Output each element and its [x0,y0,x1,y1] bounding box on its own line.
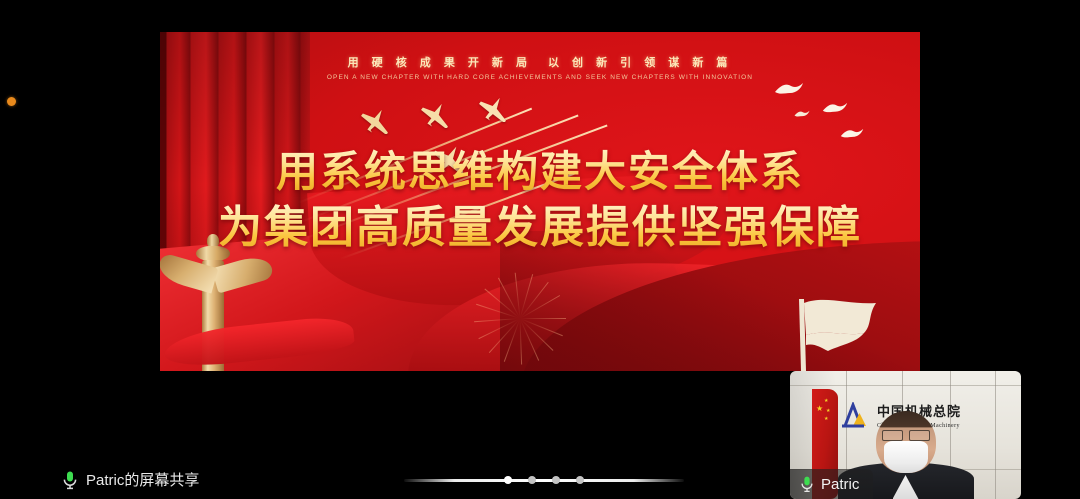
dove-group-decoration [772,80,902,160]
dove-icon [794,110,810,119]
airplane-group-decoration [310,82,590,212]
participant-name: Patric [821,476,859,493]
shared-screen-slide[interactable]: 用 硬 核 成 果 开 新 局以 创 新 引 领 谋 新 篇 OPEN A NE… [160,32,920,371]
screen-share-indicator: Patric的屏幕共享 [62,469,199,490]
pager-dot-1[interactable] [504,476,512,484]
dove-icon [840,128,864,141]
microphone-icon [62,470,78,490]
microphone-icon [800,475,814,493]
recording-status-dot [7,97,16,106]
screen-share-label: Patric的屏幕共享 [86,469,199,490]
dove-icon [774,82,804,98]
pager-dot-2[interactable] [528,476,536,484]
participant-video-tile[interactable]: ★ ★ ★ ★ 中国机械总院 China Academy of Machiner… [790,371,1021,499]
dove-icon [822,102,848,116]
face-mask [884,441,928,473]
pager-dot-4[interactable] [576,476,584,484]
slide-pager[interactable] [404,476,684,484]
glasses-icon [882,430,930,439]
flag-decoration [780,289,890,371]
firework-decoration [460,273,580,363]
meeting-window: 用 硬 核 成 果 开 新 局以 创 新 引 领 谋 新 篇 OPEN A NE… [0,0,1080,499]
participant-name-badge: Patric [790,469,873,499]
pager-track[interactable] [404,479,684,482]
pager-dot-3[interactable] [552,476,560,484]
triangle-mark-icon [836,402,870,428]
